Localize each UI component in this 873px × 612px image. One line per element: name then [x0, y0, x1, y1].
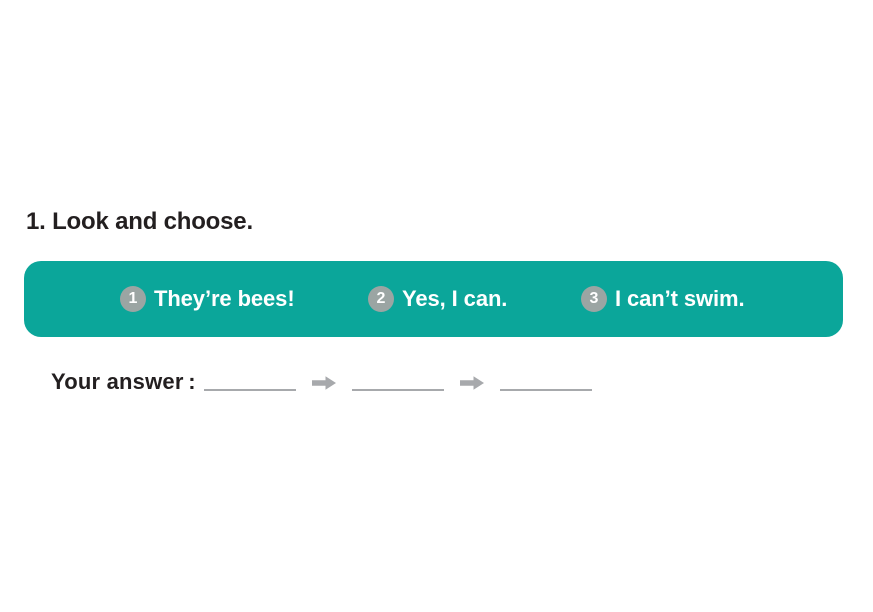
answer-blank-2[interactable] [352, 389, 444, 391]
option-label-1: They’re bees! [154, 286, 295, 312]
worksheet-page: 1. Look and choose. 1 They’re bees! 2 Ye… [0, 0, 873, 612]
answer-label: Your answer : [51, 368, 196, 396]
arrow-right-icon [460, 375, 484, 391]
options-banner: 1 They’re bees! 2 Yes, I can. 3 I can’t … [24, 261, 843, 337]
option-number-badge-3: 3 [581, 286, 607, 312]
option-item-2[interactable]: 2 Yes, I can. [368, 261, 507, 337]
option-item-3[interactable]: 3 I can’t swim. [581, 261, 745, 337]
answer-row: Your answer : [51, 362, 592, 402]
answer-blank-3[interactable] [500, 389, 592, 391]
option-item-1[interactable]: 1 They’re bees! [120, 261, 295, 337]
option-number-badge-1: 1 [120, 286, 146, 312]
answer-blank-1[interactable] [204, 389, 296, 391]
option-label-2: Yes, I can. [402, 286, 507, 312]
arrow-right-icon [312, 375, 336, 391]
page-title: 1. Look and choose. [26, 207, 253, 237]
option-number-badge-2: 2 [368, 286, 394, 312]
option-label-3: I can’t swim. [615, 286, 745, 312]
